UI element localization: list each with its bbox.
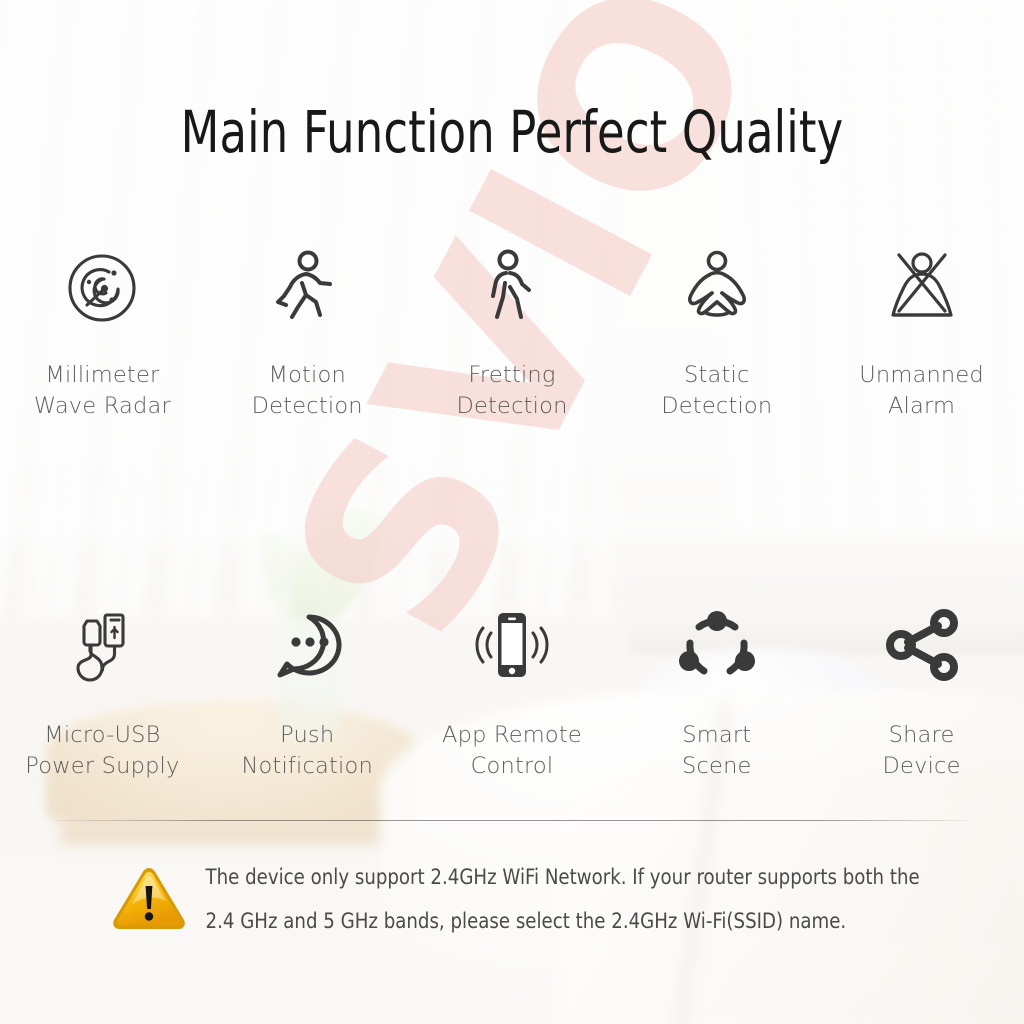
infographic-page: SVIOT Main Function Perfect Quality (0, 0, 1024, 1024)
feature-item-static-detection: Static Detection (614, 242, 819, 422)
radar-icon (63, 242, 141, 334)
feature-label: Motion Detection (252, 360, 363, 422)
feature-row-2: Micro-USB Power Supply Push Notification (0, 600, 1024, 782)
running-person-icon (272, 242, 342, 334)
section-divider (56, 820, 970, 821)
speech-bubble-icon (267, 600, 347, 692)
feature-item-smart-scene: Smart Scene (614, 600, 819, 782)
page-title: Main Function Perfect Quality (72, 98, 953, 166)
smartphone-signal-icon (469, 600, 555, 692)
wifi-note: The device only support 2.4GHz WiFi Netw… (110, 852, 970, 944)
feature-label: Static Detection (661, 360, 772, 422)
feature-item-push-notification: Push Notification (205, 600, 410, 782)
feature-label: Share Device (883, 720, 961, 782)
feature-label: Fretting Detection (456, 360, 567, 422)
share-icon (882, 600, 962, 692)
feature-label: Unmanned Alarm (859, 360, 984, 422)
content-layer: Main Function Perfect Quality Millimeter… (0, 0, 1024, 1024)
feature-item-unmanned-alarm: Unmanned Alarm (819, 242, 1024, 422)
walking-person-icon (483, 242, 541, 334)
seated-person-icon (679, 242, 755, 334)
warning-triangle-icon (110, 852, 198, 938)
feature-item-app-remote-control: App Remote Control (410, 600, 615, 782)
wifi-note-text: The device only support 2.4GHz WiFi Netw… (198, 852, 924, 944)
feature-label: Smart Scene (682, 720, 752, 782)
feature-label: Push Notification (241, 720, 373, 782)
feature-item-micro-usb-power-supply: Micro-USB Power Supply (0, 600, 205, 782)
feature-label: App Remote Control (442, 720, 582, 782)
usb-cable-icon (63, 600, 141, 692)
feature-label: Micro-USB Power Supply (25, 720, 179, 782)
feature-item-share-device: Share Device (819, 600, 1024, 782)
feature-row-1: Millimeter Wave Radar Motion Detection (0, 242, 1024, 422)
no-person-icon (883, 242, 961, 334)
feature-item-fretting-detection: Fretting Detection (410, 242, 615, 422)
network-nodes-icon (677, 600, 757, 692)
feature-item-millimeter-wave-radar: Millimeter Wave Radar (0, 242, 205, 422)
feature-label: Millimeter Wave Radar (34, 360, 171, 422)
feature-item-motion-detection: Motion Detection (205, 242, 410, 422)
